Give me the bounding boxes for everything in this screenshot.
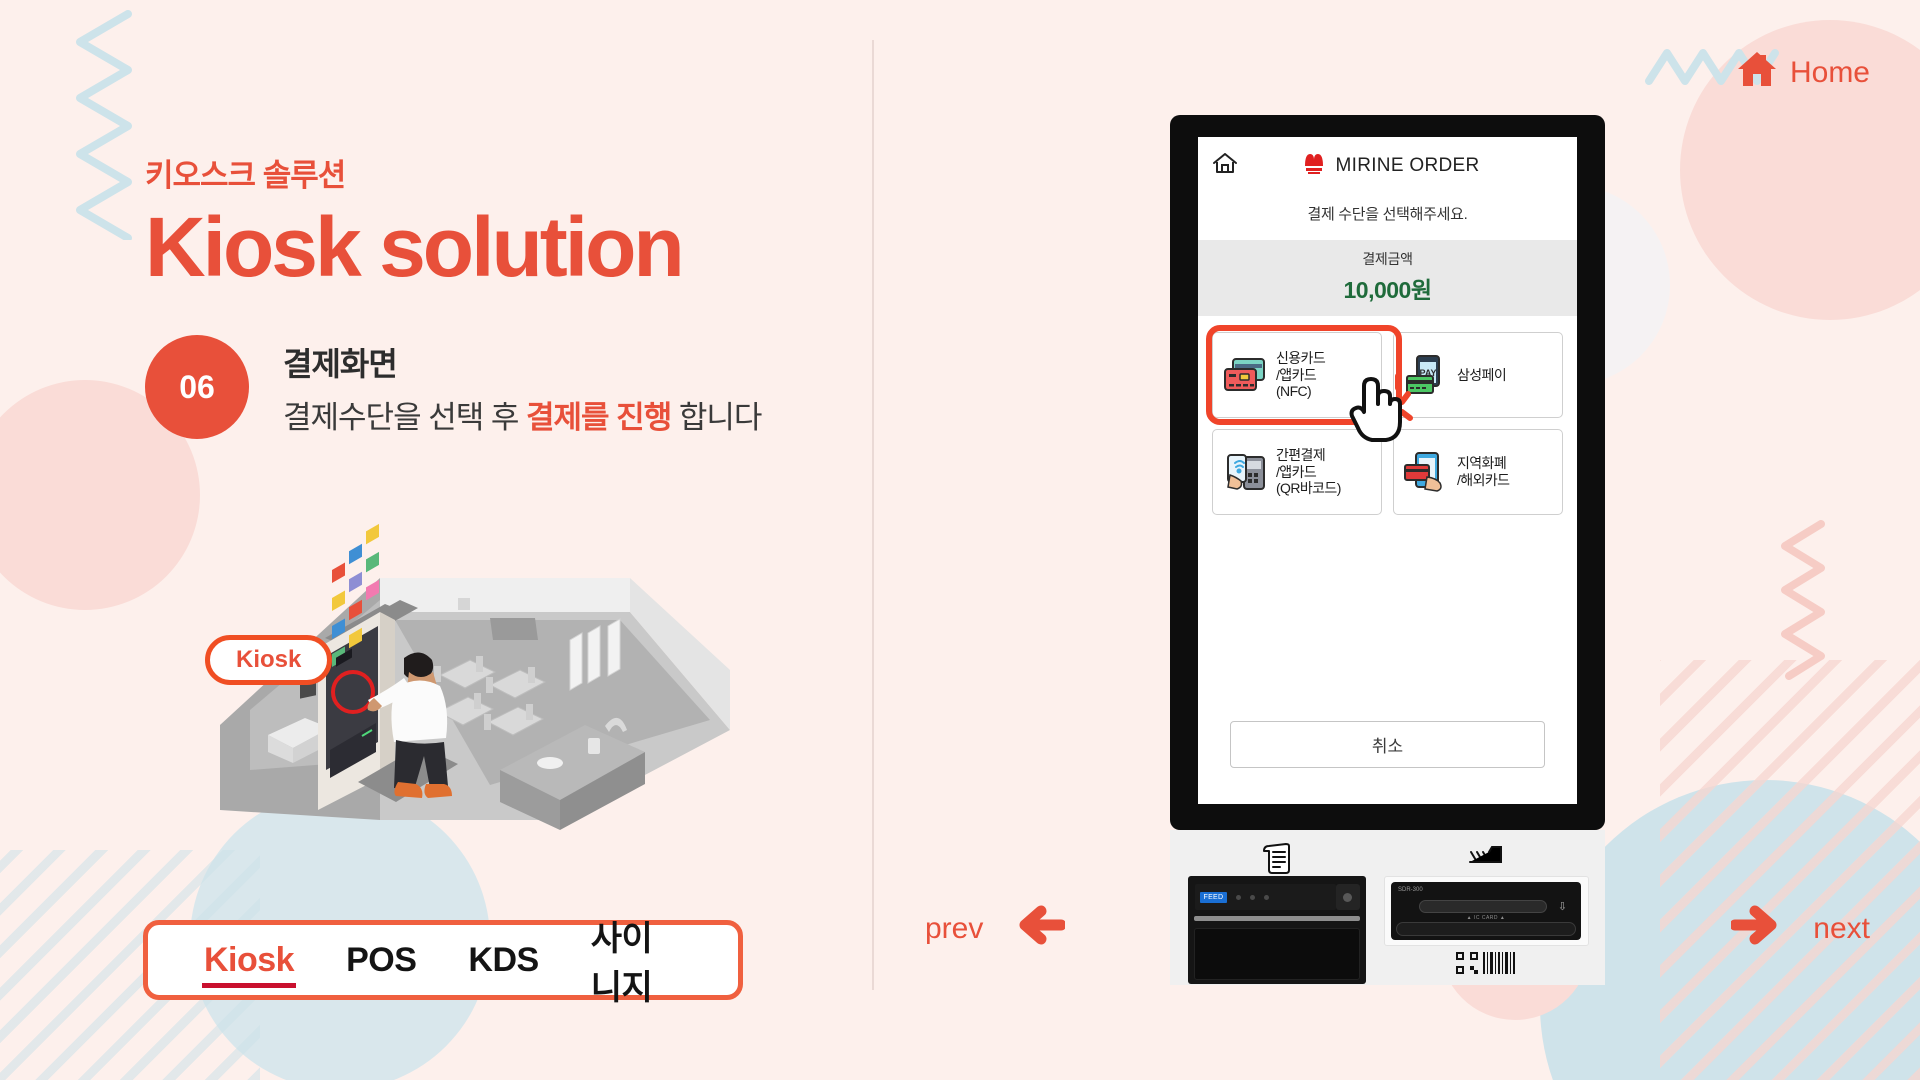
card-insert-icon [1468,840,1504,876]
card-reader-slot[interactable] [1419,900,1547,913]
step-desc-after: 합니다 [671,400,761,435]
step-title: 결제화면 [283,339,761,385]
card-reader-model: SDR-300 [1398,887,1423,893]
payment-method-local-currency[interactable]: 지역화폐/해외카드 [1393,429,1563,515]
isometric-store-illustration [190,520,750,850]
printer-led-error [1250,895,1255,900]
home-button[interactable]: Home [1736,50,1870,96]
card-reader-slot-label: ▲ IC CARD ▲ [1391,915,1581,921]
decoration-stripes-bottom-right [1660,660,1920,1080]
step-desc-before: 결제수단을 선택 후 [283,400,526,435]
kiosk-brand: MIRINE ORDER [1242,149,1537,182]
card-reader-plate: SDR-300 ⇩ ▲ IC CARD ▲ [1384,876,1589,946]
code-scanner-icons [1456,952,1517,979]
page-title: Kiosk solution [145,205,865,289]
kiosk-illustration-badge: Kiosk [205,635,332,685]
printer-tray [1194,928,1360,980]
next-button[interactable]: next [1731,905,1870,953]
hero-section: 키오스크 솔루션 Kiosk solution 06 결제화면 결제수단을 선택… [145,150,865,439]
payment-label-qr: 간편결제/앱카드(QR바코드) [1276,447,1341,497]
credit-cards-icon [1221,355,1269,395]
tab-kds[interactable]: KDS [442,939,564,982]
tab-pos[interactable]: POS [320,939,442,982]
tab-kiosk[interactable]: Kiosk [178,939,320,982]
printer-feed-label[interactable]: FEED [1200,892,1228,903]
printer-led-power [1236,895,1241,900]
section-divider [872,40,874,990]
kiosk-prompt: 결제 수단을 선택해주세요. [1198,186,1577,240]
kiosk-hardware-base: FEED SD [1170,830,1605,985]
prev-label: prev [925,912,983,946]
printer-control-strip: FEED [1195,884,1336,910]
kiosk-screen: MIRINE ORDER 결제 수단을 선택해주세요. 결제금액 10,000원 [1198,137,1577,804]
decoration-zigzag-right [1775,520,1845,680]
qr-terminal-icon [1221,451,1269,493]
printer-knob[interactable] [1336,884,1360,910]
prev-button[interactable]: prev [925,905,1065,953]
hand-pointer-icon [1348,372,1402,447]
home-icon [1736,50,1778,96]
card-insert-arrow-icon: ⇩ [1558,900,1567,913]
printer-paper-slot [1194,916,1360,921]
hero-eyebrow: 키오스크 솔루션 [145,150,865,195]
barcode-icon [1483,952,1517,979]
printer-led-paper [1264,895,1269,900]
kiosk-home-icon[interactable] [1212,151,1242,180]
step-block: 06 결제화면 결제수단을 선택 후 결제를 진행 합니다 [145,335,865,439]
arrow-right-icon [1731,905,1795,953]
qr-code-icon [1456,952,1478,979]
tab-signage[interactable]: 사이니지 [565,909,708,1011]
card-reader-lip [1396,922,1576,936]
payment-label-local-currency: 지역화폐/해외카드 [1457,455,1509,488]
decoration-zigzag-left [70,10,140,240]
cancel-button[interactable]: 취소 [1230,721,1545,768]
kiosk-amount-bar: 결제금액 10,000원 [1198,240,1577,316]
printer-body: FEED [1188,876,1366,984]
amount-value: 10,000원 [1198,271,1577,305]
step-desc-highlight: 결제를 진행 [526,400,671,435]
payment-method-samsung-pay[interactable]: PAY 삼성페이 [1393,332,1563,418]
kiosk-brand-name: MIRINE ORDER [1336,155,1480,177]
receipt-printer: FEED [1184,840,1369,985]
receipt-icon [1262,840,1292,876]
kiosk-illustration: Kiosk [190,520,750,850]
payment-label-samsung-pay: 삼성페이 [1457,367,1506,384]
payment-label-credit-card: 신용카드/앱카드(NFC) [1276,350,1325,400]
card-reader-body: SDR-300 ⇩ ▲ IC CARD ▲ [1391,882,1581,940]
kiosk-screen-header: MIRINE ORDER [1198,137,1577,186]
next-label: next [1813,912,1870,946]
step-description: 결제수단을 선택 후 결제를 진행 합니다 [283,392,761,437]
product-tabs: Kiosk POS KDS 사이니지 [143,920,743,1000]
mirine-logo-icon [1300,149,1328,182]
payment-method-grid: 신용카드/앱카드(NFC) PAY 삼성페이 [1198,316,1577,515]
arrow-left-icon [1001,905,1065,953]
phone-card-icon [1402,451,1450,493]
step-number-badge: 06 [145,335,249,439]
card-reader: SDR-300 ⇩ ▲ IC CARD ▲ [1381,840,1591,985]
kiosk-cancel-wrapper: 취소 [1198,721,1577,804]
home-label: Home [1790,56,1870,90]
kiosk-device: MIRINE ORDER 결제 수단을 선택해주세요. 결제금액 10,000원 [1170,115,1605,985]
kiosk-screen-bezel: MIRINE ORDER 결제 수단을 선택해주세요. 결제금액 10,000원 [1170,115,1605,830]
amount-label: 결제금액 [1198,249,1577,269]
kiosk-screen-spacer [1198,515,1577,721]
